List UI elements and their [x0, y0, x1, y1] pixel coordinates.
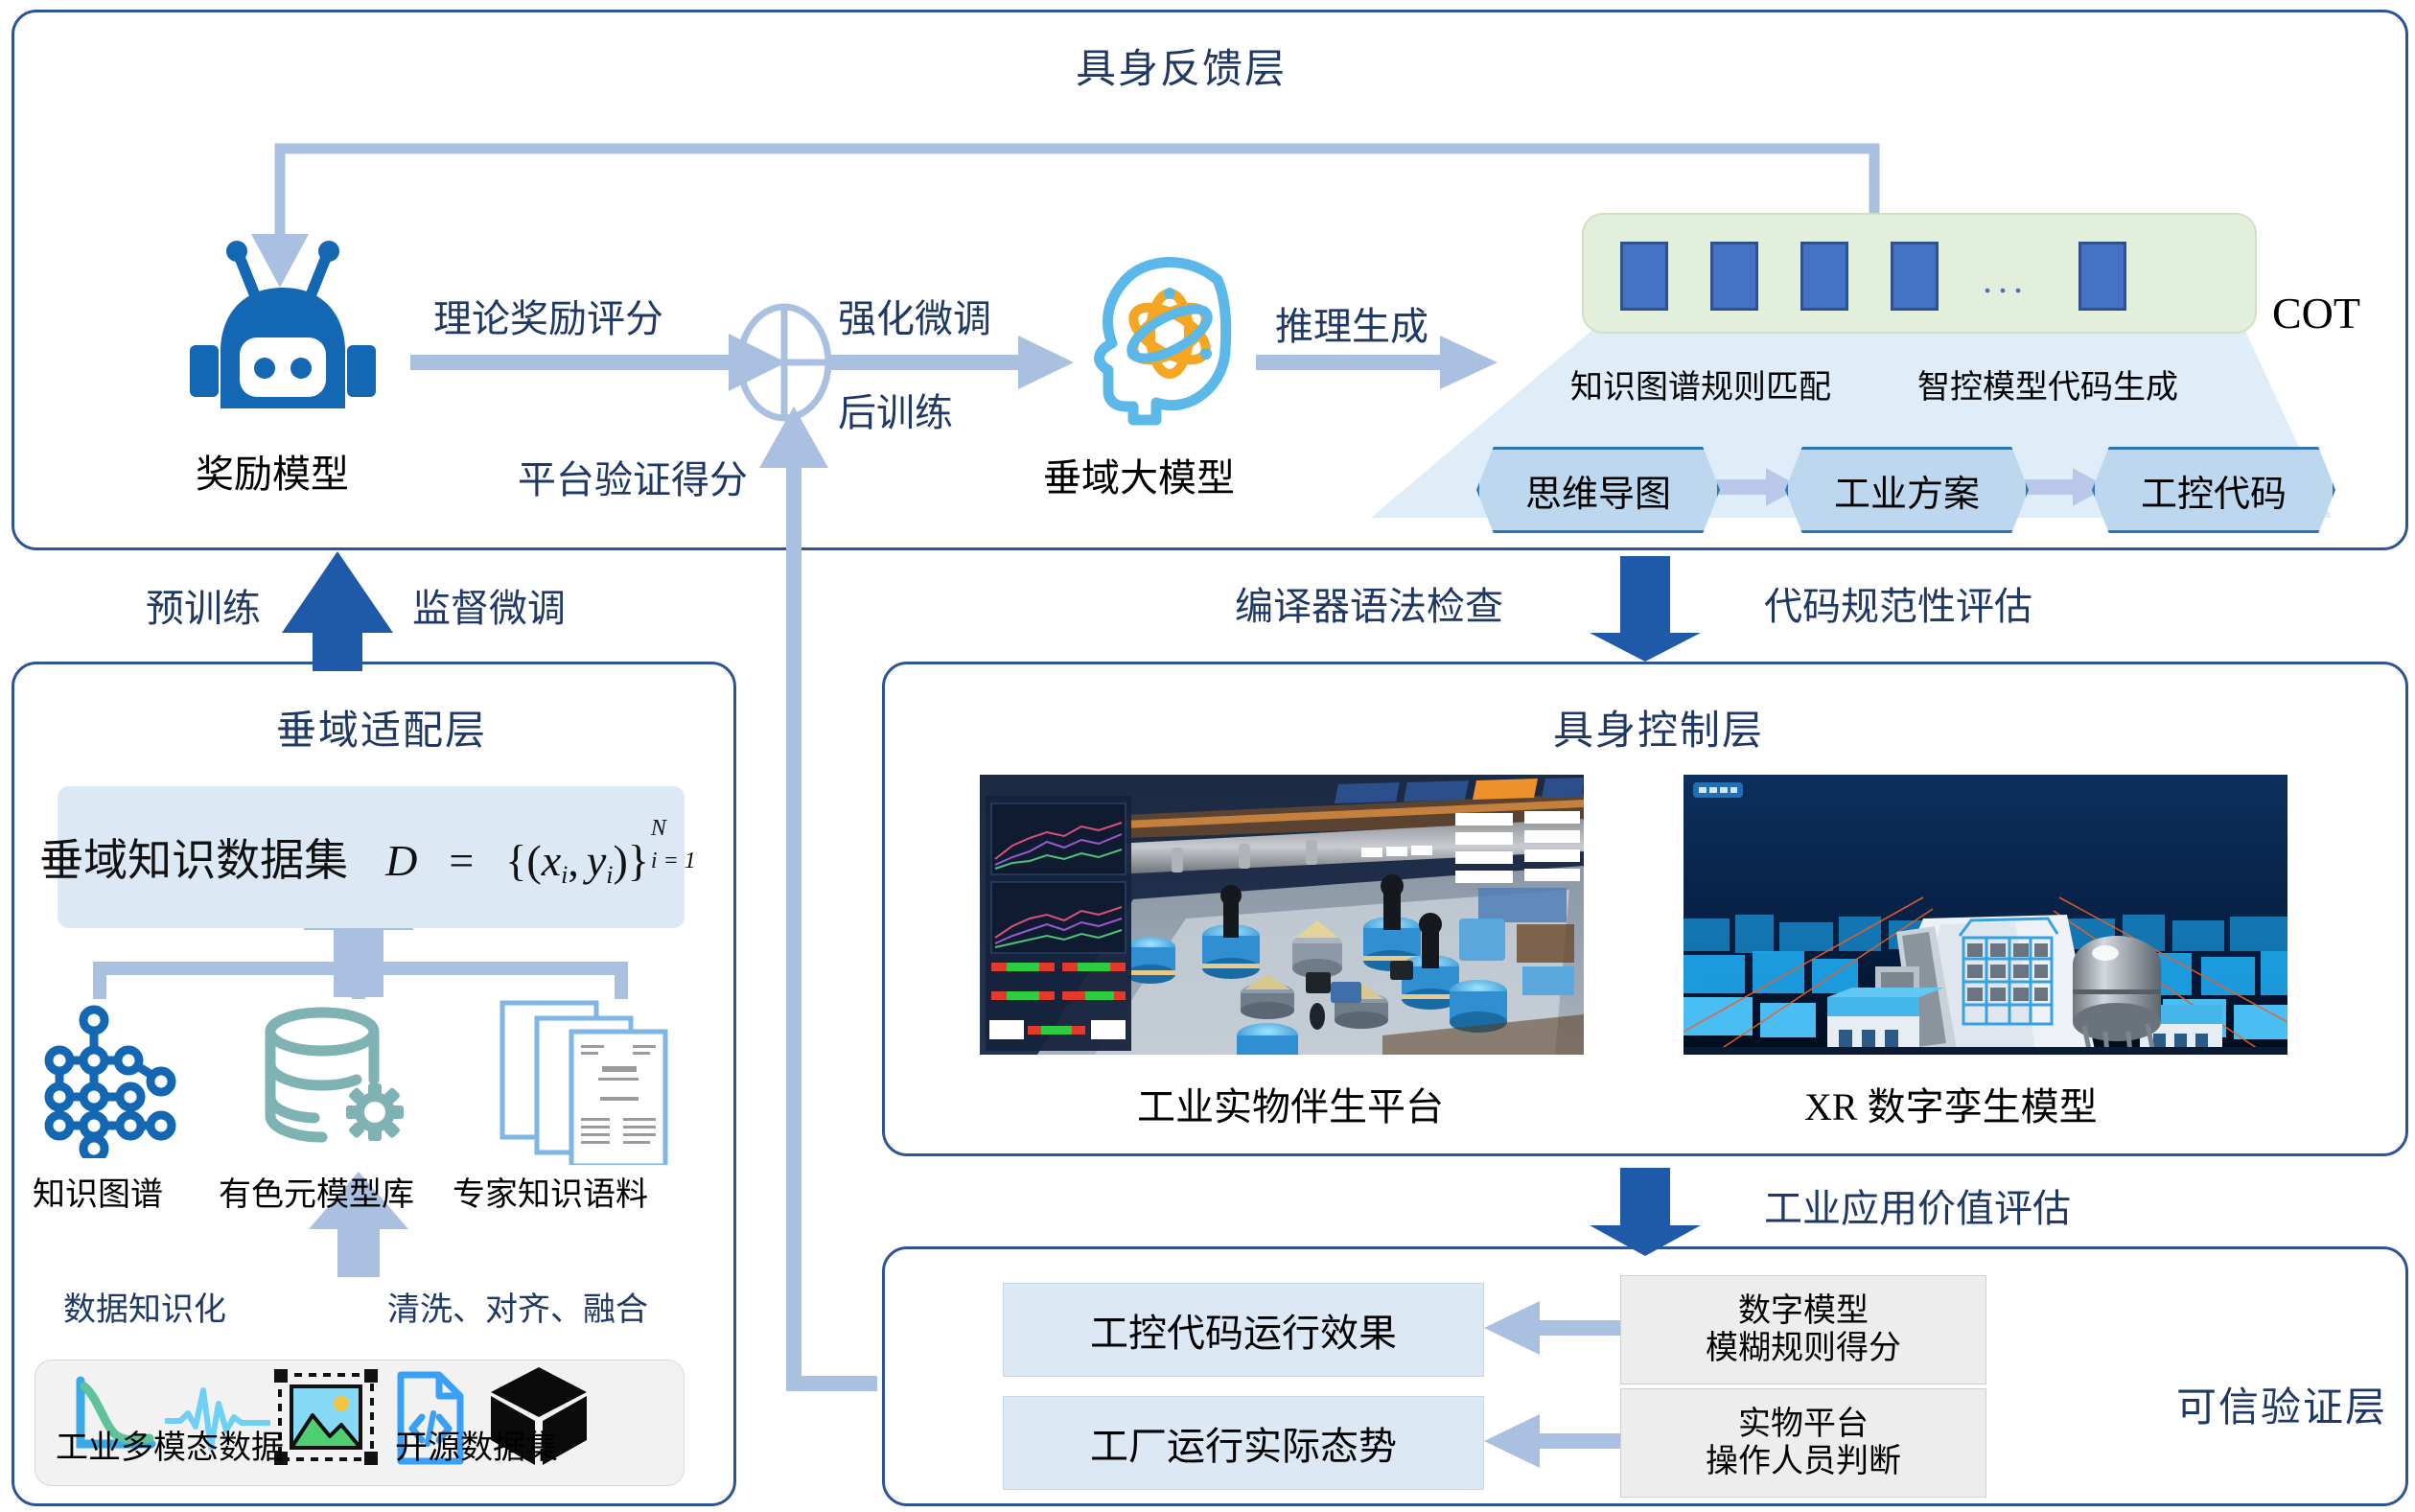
label-opensource-dataset: 开源数据集	[395, 1421, 558, 1468]
cot-token-square	[1800, 242, 1848, 311]
source-label-expert-corpus: 专家知识语料	[453, 1168, 648, 1215]
cot-ellipsis: ...	[1983, 261, 2029, 299]
label-theory-reward-score: 理论奖励评分	[433, 288, 663, 343]
cot-token-square	[1710, 242, 1758, 311]
documents-icon	[499, 997, 681, 1165]
image-icon	[274, 1369, 378, 1465]
verify-layer-title: 可信验证层	[2176, 1375, 2387, 1433]
cot-chain-label: 思维导图	[1525, 464, 1671, 517]
label-inference-generation: 推理生成	[1275, 295, 1428, 351]
label-data-knowledgeization: 数据知识化	[63, 1283, 226, 1330]
caption-smart-control-codegen: 智控模型代码生成	[1917, 361, 2178, 407]
database-gear-icon	[247, 1005, 420, 1158]
label-code-standard-eval: 代码规范性评估	[1764, 575, 2032, 631]
vertical-llm-label: 垂域大模型	[1043, 447, 1235, 502]
formula-prefix: 垂域知识数据集	[39, 836, 348, 885]
formula-y-sub: i	[606, 860, 613, 888]
label-industrial-value-eval: 工业应用价值评估	[1764, 1177, 2071, 1233]
knowledge-graph-icon	[35, 1005, 188, 1158]
industrial-physical-platform-screenshot	[980, 775, 1584, 1055]
label-pretrain: 预训练	[146, 577, 261, 633]
label-post-training: 后训练	[838, 382, 953, 437]
cot-chain-label: 工控代码	[2141, 464, 2287, 517]
vertical-llm-brain-icon	[1074, 251, 1256, 433]
cot-chain-item-plc-code[interactable]: 工控代码	[2092, 447, 2335, 533]
feedback-layer-title: 具身反馈层	[1076, 36, 1287, 95]
cot-chain-label: 工业方案	[1834, 464, 1980, 517]
formula-close: )}	[614, 836, 649, 885]
verify-box-label: 工厂运行实际态势	[1090, 1415, 1397, 1471]
formula-x: x	[542, 836, 561, 885]
control-layer-title: 具身控制层	[1553, 698, 1764, 756]
verify-box-line1: 数字模型	[1738, 1292, 1869, 1330]
label-platform-verify-score: 平台验证得分	[518, 449, 748, 504]
dataset-formula: 垂域知识数据集 D = {(xi,yi)} N i = 1	[39, 826, 703, 890]
cot-chain-item-industrial-plan[interactable]: 工业方案	[1785, 447, 2029, 533]
label-rl-finetune: 强化微调	[838, 288, 991, 343]
verify-box-operator-judgement: 实物平台 操作人员判断	[1620, 1388, 1986, 1498]
caption-industrial-physical-platform: 工业实物伴生平台	[1137, 1076, 1444, 1131]
verify-box-digital-model-score: 数字模型 模糊规则得分	[1620, 1275, 1986, 1384]
caption-kg-rule-match: 知识图谱规则匹配	[1570, 361, 1831, 407]
source-label-model-library: 有色元模型库	[219, 1168, 414, 1215]
adapt-layer-title: 垂域适配层	[276, 698, 487, 756]
cot-token-square	[2078, 242, 2126, 311]
formula-open: {(	[505, 836, 541, 885]
arrow-platform-verify-score	[759, 407, 877, 1384]
verify-box-line2: 操作人员判断	[1706, 1443, 1901, 1480]
verify-box-plant-status: 工厂运行实际态势	[1003, 1396, 1484, 1490]
xr-digital-twin-screenshot	[1684, 775, 2287, 1055]
verify-box-line2: 模糊规则得分	[1706, 1330, 1901, 1367]
formula-sup-N: N	[651, 816, 666, 842]
formula-equals: =	[449, 836, 474, 885]
arrow-industrial-value-down	[1590, 1168, 1701, 1256]
reward-model-label: 奖励模型	[196, 443, 349, 499]
label-multimodal-data: 工业多模态数据	[56, 1421, 284, 1468]
cot-token-square	[1891, 242, 1939, 311]
cot-token-square	[1620, 242, 1668, 311]
source-label-knowledge-graph: 知识图谱	[33, 1168, 163, 1215]
formula-sub-i1: i = 1	[651, 849, 696, 874]
cot-label: COT	[2272, 288, 2360, 338]
arrow-compiler-check-down	[1590, 556, 1701, 662]
cot-chain-item-mindmap[interactable]: 思维导图	[1476, 447, 1720, 533]
reward-model-robot-icon	[182, 238, 383, 430]
dataset-formula-box: 垂域知识数据集 D = {(xi,yi)} N i = 1	[58, 786, 685, 928]
formula-comma: ,	[568, 836, 579, 885]
arrow-pretrain-supervised-up	[282, 551, 393, 671]
verify-box-line1: 实物平台	[1738, 1406, 1869, 1443]
formula-y: y	[587, 836, 606, 885]
caption-xr-digital-twin: XR 数字孪生模型	[1804, 1076, 2098, 1131]
verify-box-label: 工控代码运行效果	[1090, 1302, 1397, 1358]
label-compiler-syntax-check: 编译器语法检查	[1235, 575, 1503, 631]
verify-box-code-effect: 工控代码运行效果	[1003, 1283, 1484, 1377]
formula-symbol-D: D	[385, 836, 417, 885]
label-supervised-finetune: 监督微调	[412, 577, 566, 633]
label-clean-align-fuse: 清洗、对齐、融合	[387, 1283, 648, 1330]
